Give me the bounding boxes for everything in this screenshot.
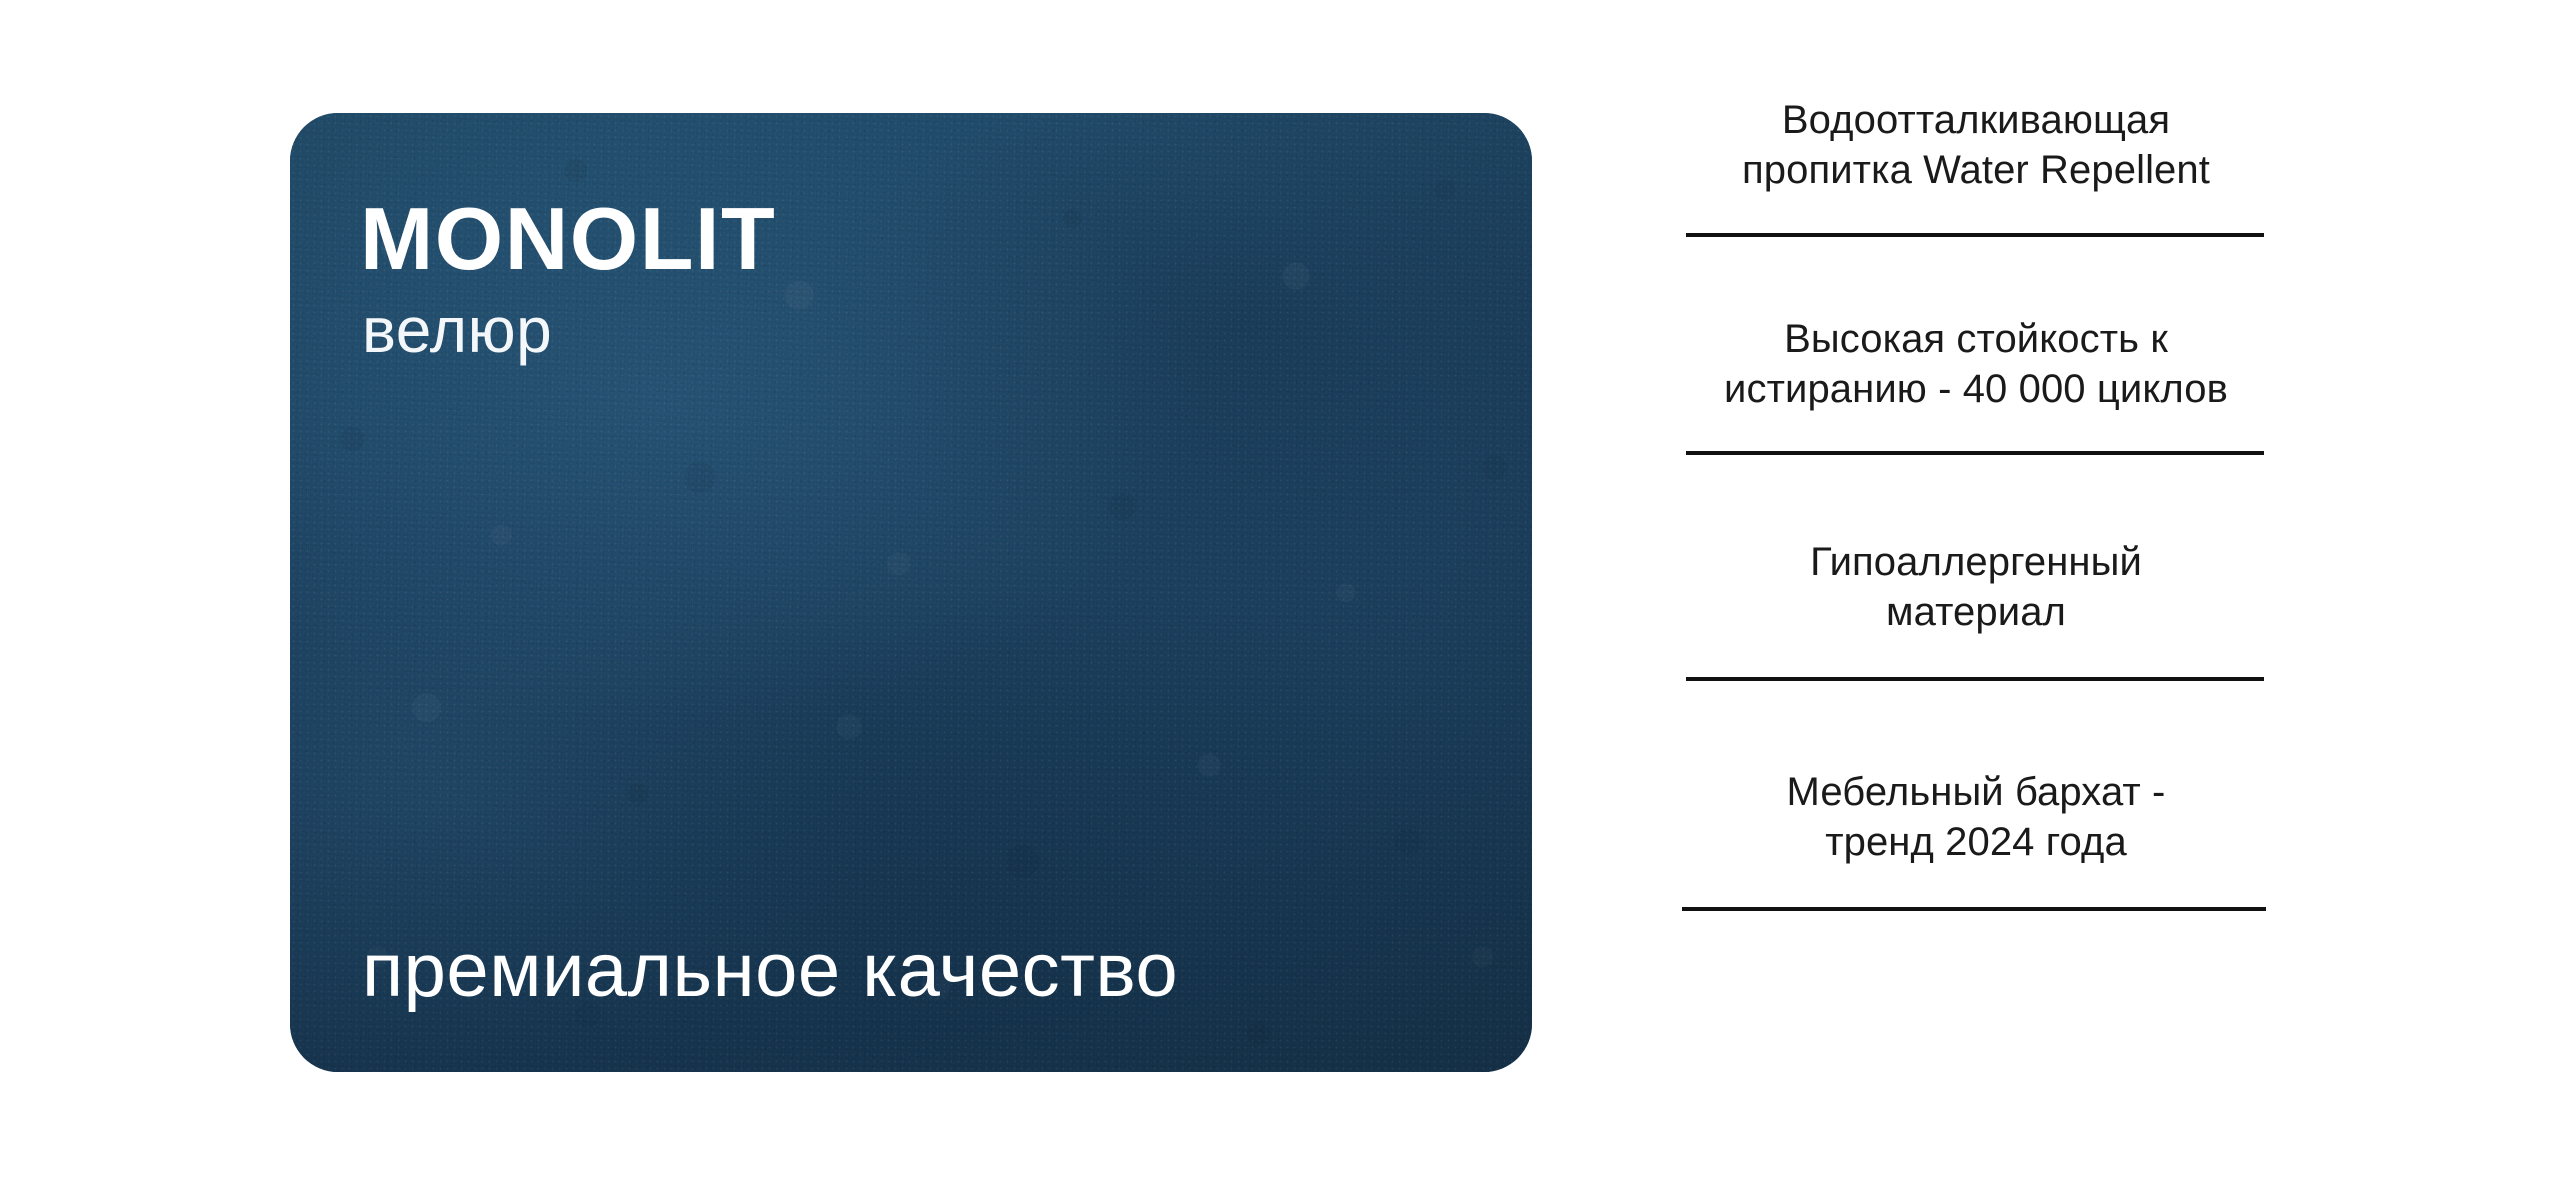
feature-divider (1682, 907, 2266, 911)
feature-text: Мебельный бархат - тренд 2024 года (1686, 767, 2266, 867)
quality-tagline: премиальное качество (362, 933, 1178, 1009)
feature-divider (1686, 451, 2264, 455)
swatch-text-group: MONOLIT велюр премиальное качество (290, 113, 1532, 1072)
feature-text: Высокая стойкость к истиранию - 40 000 ц… (1686, 314, 2266, 414)
feature-item-abrasion-resistance: Высокая стойкость к истиранию - 40 000 ц… (1686, 314, 2266, 455)
feature-text: Гипоаллергенный материал (1686, 537, 2266, 637)
feature-divider (1686, 233, 2264, 237)
feature-item-hypoallergenic: Гипоаллергенный материал (1686, 537, 2266, 681)
feature-divider (1686, 677, 2264, 681)
feature-text: Водоотталкивающая пропитка Water Repelle… (1686, 95, 2266, 195)
material-type-label: велюр (362, 298, 552, 362)
feature-list: Водоотталкивающая пропитка Water Repelle… (1686, 95, 2266, 911)
feature-item-trend-2024: Мебельный бархат - тренд 2024 года (1686, 767, 2266, 911)
brand-name: MONOLIT (360, 195, 776, 283)
feature-item-water-repellent: Водоотталкивающая пропитка Water Repelle… (1686, 95, 2266, 237)
fabric-swatch-card: MONOLIT велюр премиальное качество (290, 113, 1532, 1072)
